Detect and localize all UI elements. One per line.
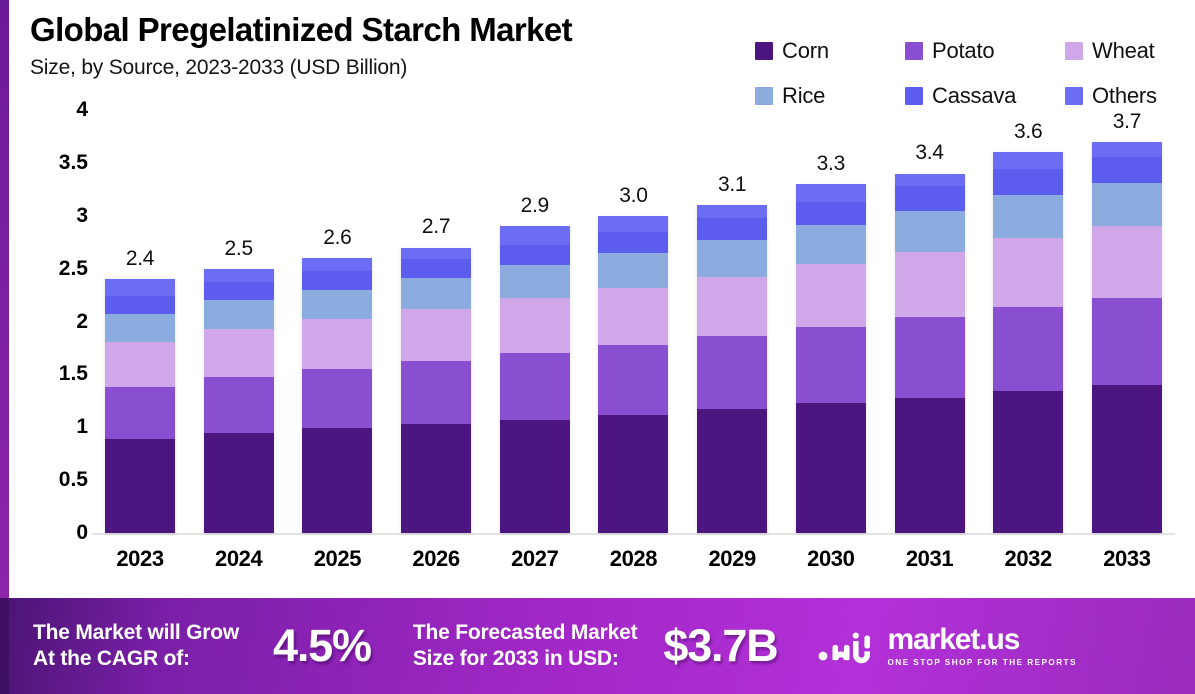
forecast-label-line1: The Forecasted Market xyxy=(413,621,638,644)
bar-segment-corn[interactable] xyxy=(993,391,1063,533)
bar-segment-wheat[interactable] xyxy=(401,309,471,361)
bar-segment-cassava[interactable] xyxy=(598,232,668,253)
bar-segment-rice[interactable] xyxy=(105,314,175,341)
bar-total-label: 3.0 xyxy=(585,184,681,208)
bar-stack[interactable] xyxy=(401,247,471,533)
bar-total-label: 2.4 xyxy=(92,247,188,271)
bar-segment-potato[interactable] xyxy=(993,307,1063,392)
legend-item-others[interactable]: Others xyxy=(1065,83,1195,109)
bar-segment-wheat[interactable] xyxy=(105,342,175,387)
legend-item-potato[interactable]: Potato xyxy=(905,38,1065,64)
bar-segment-rice[interactable] xyxy=(697,240,767,277)
bar-segment-others[interactable] xyxy=(895,174,965,187)
bar-group-2030[interactable]: 3.3 xyxy=(783,110,879,533)
x-axis-tick-2025: 2025 xyxy=(289,546,385,572)
bar-segment-corn[interactable] xyxy=(598,415,668,533)
bar-segment-corn[interactable] xyxy=(796,403,866,533)
y-axis-tick: 0 xyxy=(76,521,88,545)
legend-swatch-corn-icon xyxy=(755,42,773,60)
bar-segment-others[interactable] xyxy=(697,205,767,218)
bar-segment-rice[interactable] xyxy=(302,290,372,320)
cagr-label-line1: The Market will Grow xyxy=(33,621,239,644)
forecast-label-line2: Size for 2033 in USD: xyxy=(413,647,619,670)
legend-label: Potato xyxy=(932,38,994,64)
bar-stack[interactable] xyxy=(697,205,767,533)
infographic-root: Global Pregelatinized Starch Market Size… xyxy=(0,0,1195,694)
bar-segment-wheat[interactable] xyxy=(697,277,767,336)
bar-segment-wheat[interactable] xyxy=(895,252,965,318)
cagr-label: The Market will Grow At the CAGR of: xyxy=(33,620,239,671)
bar-segment-cassava[interactable] xyxy=(302,271,372,290)
bar-segment-cassava[interactable] xyxy=(697,218,767,240)
bar-segment-potato[interactable] xyxy=(1092,298,1162,385)
bar-total-label: 3.1 xyxy=(684,173,780,197)
bar-segment-cassava[interactable] xyxy=(204,282,274,300)
bar-segment-rice[interactable] xyxy=(895,211,965,252)
bar-stack[interactable] xyxy=(895,173,965,533)
bar-series-container: 2.42.52.62.72.93.03.13.33.43.63.7 xyxy=(92,110,1175,533)
bar-total-label: 2.7 xyxy=(388,215,484,239)
bar-segment-cassava[interactable] xyxy=(105,296,175,314)
bar-group-2033[interactable]: 3.7 xyxy=(1079,110,1175,533)
footer-banner: The Market will Grow At the CAGR of: 4.5… xyxy=(0,598,1195,694)
legend-swatch-others-icon xyxy=(1065,87,1083,105)
bar-segment-corn[interactable] xyxy=(401,424,471,533)
y-axis-tick: 3 xyxy=(76,204,88,228)
legend-swatch-wheat-icon xyxy=(1065,42,1083,60)
bar-segment-potato[interactable] xyxy=(598,345,668,415)
x-axis-tick-2024: 2024 xyxy=(191,546,287,572)
bar-segment-potato[interactable] xyxy=(401,361,471,424)
cagr-label-line2: At the CAGR of: xyxy=(33,647,190,670)
bar-segment-corn[interactable] xyxy=(500,420,570,533)
bar-segment-potato[interactable] xyxy=(697,336,767,409)
bar-segment-rice[interactable] xyxy=(598,253,668,288)
x-axis-tick-2028: 2028 xyxy=(585,546,681,572)
bar-stack[interactable] xyxy=(204,269,274,533)
bar-stack[interactable] xyxy=(796,184,866,533)
bar-segment-cassava[interactable] xyxy=(500,245,570,265)
legend-label: Corn xyxy=(782,38,829,64)
legend-label: Wheat xyxy=(1092,38,1155,64)
x-axis-tick-2027: 2027 xyxy=(487,546,583,572)
y-axis-tick: 3.5 xyxy=(59,151,88,175)
x-axis-tick-2032: 2032 xyxy=(980,546,1076,572)
bar-segment-corn[interactable] xyxy=(895,398,965,533)
legend-swatch-cassava-icon xyxy=(905,87,923,105)
bar-segment-rice[interactable] xyxy=(796,225,866,264)
legend-item-corn[interactable]: Corn xyxy=(755,38,905,64)
x-axis: 2023202420252026202720282029203020312032… xyxy=(92,546,1175,572)
bar-segment-others[interactable] xyxy=(302,258,372,271)
bar-stack[interactable] xyxy=(105,279,175,533)
bar-segment-potato[interactable] xyxy=(105,387,175,439)
bar-stack[interactable] xyxy=(1092,142,1162,533)
bar-segment-wheat[interactable] xyxy=(598,288,668,345)
bar-group-2029[interactable]: 3.1 xyxy=(684,110,780,533)
forecast-value: $3.7B xyxy=(663,620,777,672)
bar-segment-others[interactable] xyxy=(204,269,274,283)
chart-header: Global Pregelatinized Starch Market Size… xyxy=(30,12,1180,110)
legend-label: Cassava xyxy=(932,83,1016,109)
bar-segment-wheat[interactable] xyxy=(204,329,274,377)
y-axis-tick: 4 xyxy=(76,98,88,122)
x-axis-tick-2029: 2029 xyxy=(684,546,780,572)
market-us-logo-text: market.us ONE STOP SHOP FOR THE REPORTS xyxy=(887,625,1076,667)
cagr-value: 4.5% xyxy=(273,620,371,672)
bar-stack[interactable] xyxy=(993,152,1063,533)
bar-segment-others[interactable] xyxy=(598,216,668,232)
bar-segment-others[interactable] xyxy=(500,226,570,245)
bar-segment-potato[interactable] xyxy=(500,353,570,420)
bar-group-2025[interactable]: 2.6 xyxy=(289,110,385,533)
bar-total-label: 2.6 xyxy=(289,226,385,250)
bar-segment-corn[interactable] xyxy=(204,433,274,533)
chart-plot-area: 00.511.522.533.54 2.42.52.62.72.93.03.13… xyxy=(0,110,1195,598)
legend-label: Others xyxy=(1092,83,1157,109)
bar-stack[interactable] xyxy=(302,258,372,533)
bar-segment-cassava[interactable] xyxy=(796,202,866,225)
bar-group-2028[interactable]: 3.0 xyxy=(585,110,681,533)
bar-segment-rice[interactable] xyxy=(401,278,471,309)
bar-segment-potato[interactable] xyxy=(302,369,372,428)
x-axis-tick-2033: 2033 xyxy=(1079,546,1175,572)
bar-total-label: 2.9 xyxy=(487,194,583,218)
x-axis-tick-2023: 2023 xyxy=(92,546,188,572)
bar-segment-cassava[interactable] xyxy=(401,259,471,278)
y-axis-tick: 1 xyxy=(76,415,88,439)
bar-segment-rice[interactable] xyxy=(1092,183,1162,226)
bar-total-label: 3.6 xyxy=(980,120,1076,144)
y-axis: 00.511.522.533.54 xyxy=(20,110,88,533)
bar-segment-cassava[interactable] xyxy=(1092,157,1162,183)
y-axis-tick: 2 xyxy=(76,310,88,334)
forecast-label: The Forecasted Market Size for 2033 in U… xyxy=(413,620,638,671)
bar-segment-corn[interactable] xyxy=(697,409,767,533)
forecast-stat-block: The Forecasted Market Size for 2033 in U… xyxy=(413,598,778,694)
bar-segment-corn[interactable] xyxy=(105,439,175,533)
bar-group-2024[interactable]: 2.5 xyxy=(191,110,287,533)
market-us-logo[interactable]: market.us ONE STOP SHOP FOR THE REPORTS xyxy=(817,598,1076,694)
bar-total-label: 3.3 xyxy=(783,152,879,176)
bar-segment-corn[interactable] xyxy=(1092,385,1162,533)
y-axis-tick: 2.5 xyxy=(59,257,88,281)
page-subtitle: Size, by Source, 2023-2033 (USD Billion) xyxy=(30,56,750,80)
y-axis-tick: 1.5 xyxy=(59,362,88,386)
bar-segment-others[interactable] xyxy=(993,152,1063,169)
x-axis-line xyxy=(92,533,1175,535)
legend-swatch-potato-icon xyxy=(905,42,923,60)
bar-stack[interactable] xyxy=(598,216,668,533)
logo-tagline: ONE STOP SHOP FOR THE REPORTS xyxy=(887,658,1076,667)
chart-legend: CornPotatoWheatRiceCassavaOthers xyxy=(755,28,1195,118)
bar-segment-wheat[interactable] xyxy=(500,298,570,353)
bar-segment-cassava[interactable] xyxy=(993,169,1063,194)
bar-group-2032[interactable]: 3.6 xyxy=(980,110,1076,533)
cagr-stat-block: The Market will Grow At the CAGR of: 4.5… xyxy=(33,598,371,694)
bar-group-2027[interactable]: 2.9 xyxy=(487,110,583,533)
bar-total-label: 2.5 xyxy=(191,237,287,261)
bar-segment-wheat[interactable] xyxy=(1092,226,1162,298)
x-axis-tick-2026: 2026 xyxy=(388,546,484,572)
bar-segment-wheat[interactable] xyxy=(796,264,866,326)
bar-segment-potato[interactable] xyxy=(895,317,965,397)
bar-total-label: 3.4 xyxy=(882,141,978,165)
title-block: Global Pregelatinized Starch Market Size… xyxy=(30,12,750,80)
bar-group-2026[interactable]: 2.7 xyxy=(388,110,484,533)
y-axis-tick: 0.5 xyxy=(59,468,88,492)
bar-segment-potato[interactable] xyxy=(796,327,866,403)
legend-item-rice[interactable]: Rice xyxy=(755,83,905,109)
footer-left-accent xyxy=(0,598,9,694)
bar-segment-cassava[interactable] xyxy=(895,186,965,210)
bar-segment-wheat[interactable] xyxy=(993,238,1063,307)
x-axis-tick-2030: 2030 xyxy=(783,546,879,572)
bar-group-2023[interactable]: 2.4 xyxy=(92,110,188,533)
legend-item-wheat[interactable]: Wheat xyxy=(1065,38,1195,64)
legend-label: Rice xyxy=(782,83,825,109)
bar-segment-others[interactable] xyxy=(1092,142,1162,157)
bar-stack[interactable] xyxy=(500,226,570,533)
bar-segment-rice[interactable] xyxy=(993,195,1063,238)
bar-segment-rice[interactable] xyxy=(500,265,570,298)
legend-item-cassava[interactable]: Cassava xyxy=(905,83,1065,109)
bar-group-2031[interactable]: 3.4 xyxy=(882,110,978,533)
legend-swatch-rice-icon xyxy=(755,87,773,105)
x-axis-tick-2031: 2031 xyxy=(882,546,978,572)
bar-segment-potato[interactable] xyxy=(204,377,274,433)
bar-segment-corn[interactable] xyxy=(302,428,372,533)
market-us-logo-mark-icon xyxy=(817,623,877,670)
page-title: Global Pregelatinized Starch Market xyxy=(30,12,750,49)
logo-wordmark: market.us xyxy=(887,625,1076,655)
bar-segment-others[interactable] xyxy=(105,279,175,296)
bar-segment-wheat[interactable] xyxy=(302,319,372,369)
bar-total-label: 3.7 xyxy=(1079,110,1175,134)
bar-segment-others[interactable] xyxy=(401,248,471,260)
bar-segment-others[interactable] xyxy=(796,184,866,202)
bar-segment-rice[interactable] xyxy=(204,300,274,329)
